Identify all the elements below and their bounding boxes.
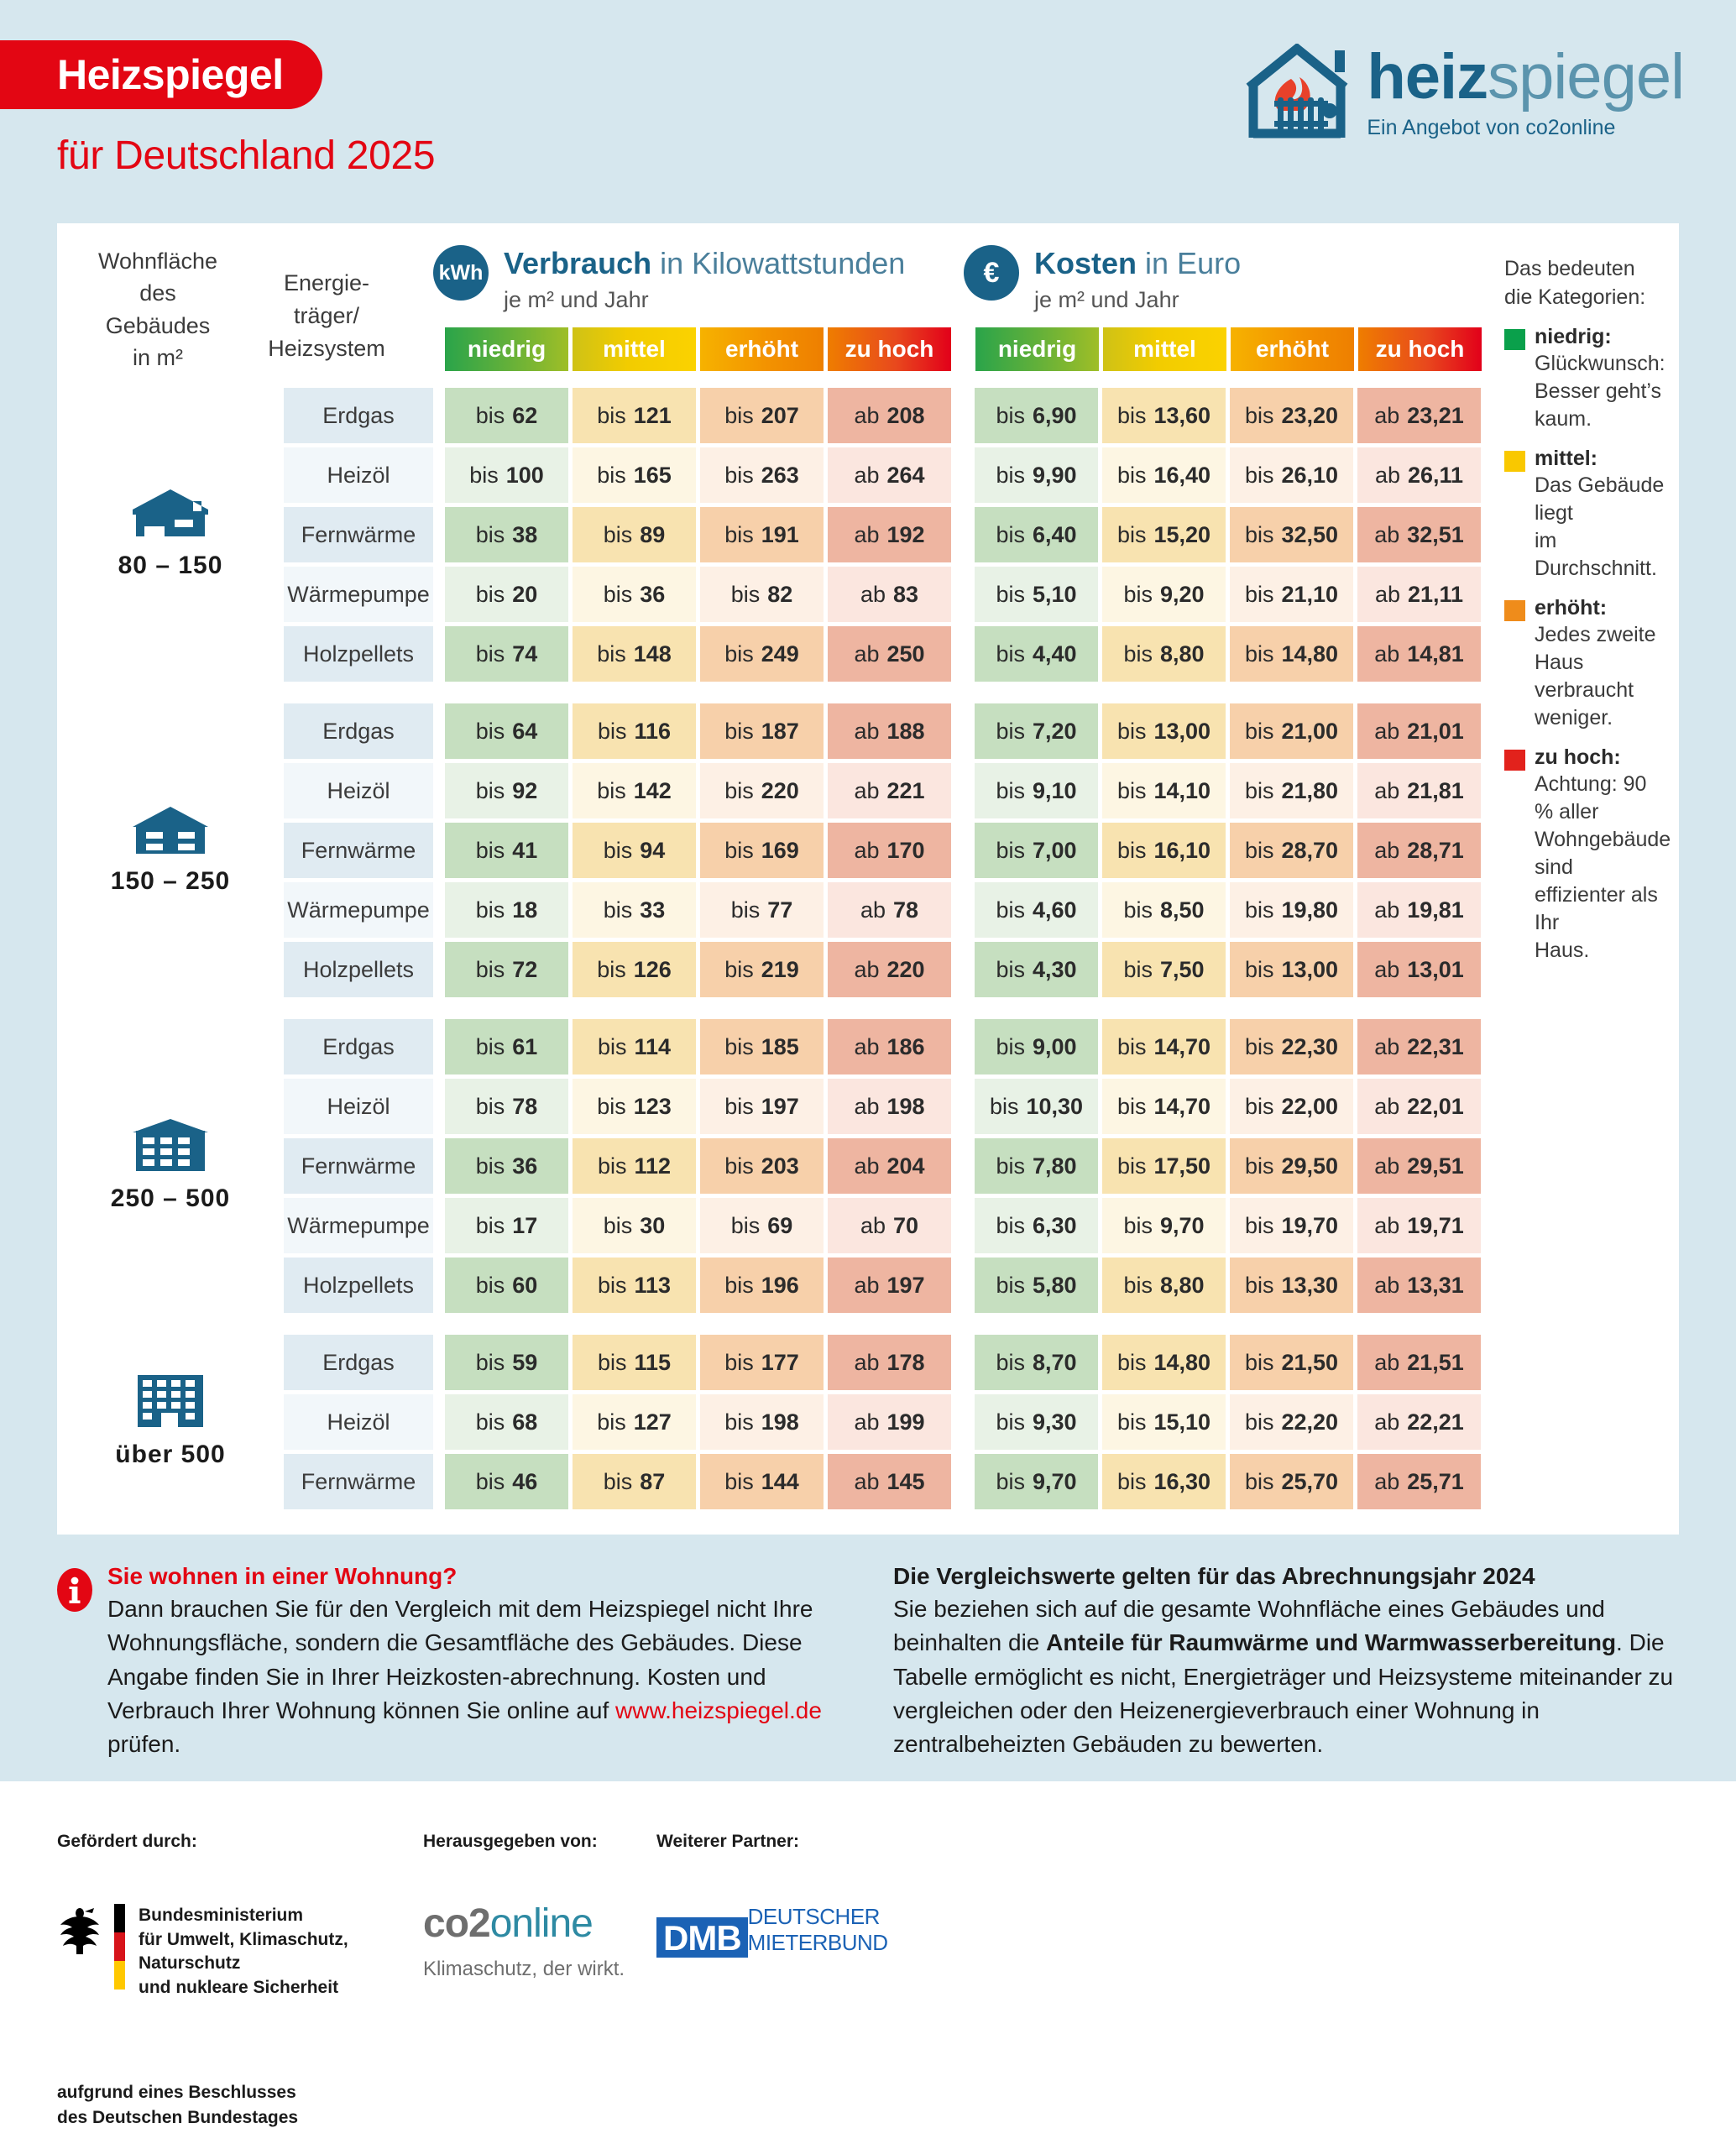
cell-verbrauch-niedrig: bis61 bbox=[445, 1019, 568, 1074]
cell-value: 220 bbox=[761, 778, 799, 804]
cell-prefix: ab bbox=[860, 897, 886, 923]
cell-value: 208 bbox=[886, 403, 924, 429]
cell-prefix: bis bbox=[724, 778, 754, 804]
cell-value: 22,01 bbox=[1407, 1094, 1464, 1120]
table-row: Holzpelletsbis72bis126bis219ab220bis4,30… bbox=[284, 942, 1679, 997]
cell-prefix: bis bbox=[1245, 1034, 1274, 1060]
table-row: Heizölbis78bis123bis197ab198bis10,30bis1… bbox=[284, 1079, 1679, 1134]
size-block-4: über 500Erdgasbis59bis115bis177ab178bis8… bbox=[57, 1335, 1679, 1509]
category-bar-verbrauch: niedrig mittel erhöht zu hoch bbox=[445, 327, 951, 371]
cell-verbrauch-erhöht: bis220 bbox=[700, 763, 824, 818]
cell-kosten-mittel: bis8,50 bbox=[1102, 882, 1226, 938]
cell-value: 22,00 bbox=[1281, 1094, 1338, 1120]
cell-prefix: bis bbox=[604, 897, 633, 923]
cell-group-verbrauch: bis59bis115bis177ab178 bbox=[445, 1335, 951, 1390]
cell-kosten-mittel: bis9,70 bbox=[1102, 1198, 1226, 1253]
cell-value: 263 bbox=[761, 463, 799, 489]
cell-value: 14,10 bbox=[1153, 778, 1210, 804]
cell-verbrauch-erhöht: bis82 bbox=[700, 567, 824, 622]
cell-prefix: bis bbox=[476, 838, 505, 864]
cell-prefix: bis bbox=[604, 582, 633, 608]
cell-verbrauch-niedrig: bis38 bbox=[445, 507, 568, 562]
cell-value: 8,80 bbox=[1160, 1273, 1205, 1299]
category-mittel-verbrauch: mittel bbox=[573, 327, 696, 371]
block-rows: Erdgasbis61bis114bis185ab186bis9,00bis14… bbox=[284, 1019, 1679, 1313]
cell-prefix: ab bbox=[1374, 1350, 1399, 1376]
wohnflaeche-line-3: Gebäudes bbox=[74, 310, 242, 342]
cell-prefix: ab bbox=[860, 582, 886, 608]
legend-color-swatch bbox=[1504, 451, 1525, 472]
cell-kosten-niedrig: bis4,30 bbox=[975, 942, 1098, 997]
cell-group-kosten: bis6,40bis15,20bis32,50ab32,51 bbox=[975, 507, 1481, 562]
cell-value: 13,31 bbox=[1407, 1273, 1464, 1299]
cell-value: 78 bbox=[512, 1094, 537, 1120]
cell-value: 100 bbox=[506, 463, 544, 489]
row-label-energietraeger: Heizöl bbox=[284, 447, 433, 503]
logo-word-spiegel: spiegel bbox=[1488, 41, 1684, 112]
cell-prefix: ab bbox=[1375, 582, 1400, 608]
cell-verbrauch-erhöht: bis187 bbox=[700, 703, 824, 759]
cell-prefix: bis bbox=[996, 1469, 1025, 1495]
logo-word-heiz: heiz bbox=[1367, 41, 1488, 112]
legend-item-name: erhöht: bbox=[1535, 596, 1607, 620]
cell-prefix: bis bbox=[1245, 463, 1274, 489]
cell-value: 21,80 bbox=[1281, 778, 1338, 804]
cell-value: 8,50 bbox=[1160, 897, 1205, 923]
cell-prefix: bis bbox=[724, 719, 754, 745]
cell-verbrauch-mittel: bis113 bbox=[573, 1258, 696, 1313]
table-row: Fernwärmebis36bis112bis203ab204bis7,80bi… bbox=[284, 1138, 1679, 1194]
cell-prefix: bis bbox=[598, 1350, 627, 1376]
cell-value: 19,70 bbox=[1281, 1213, 1338, 1239]
info-left-body-post: prüfen. bbox=[107, 1731, 180, 1757]
cell-value: 14,80 bbox=[1281, 641, 1338, 667]
cell-verbrauch-erhöht: bis144 bbox=[700, 1454, 824, 1509]
cell-prefix: bis bbox=[731, 582, 761, 608]
cell-kosten-zu hoch: ab22,21 bbox=[1357, 1394, 1481, 1450]
cell-value: 89 bbox=[640, 522, 665, 548]
cell-verbrauch-niedrig: bis72 bbox=[445, 942, 568, 997]
cell-prefix: bis bbox=[731, 897, 761, 923]
row-label-energietraeger: Fernwärme bbox=[284, 1138, 433, 1194]
cell-value: 123 bbox=[634, 1094, 672, 1120]
energietraeger-line-1: Energie- bbox=[248, 267, 405, 300]
cell-verbrauch-mittel: bis36 bbox=[573, 567, 696, 622]
cell-verbrauch-niedrig: bis68 bbox=[445, 1394, 568, 1450]
cell-group-kosten: bis6,30bis9,70bis19,70ab19,71 bbox=[975, 1198, 1481, 1253]
cell-value: 62 bbox=[512, 403, 537, 429]
cell-value: 14,80 bbox=[1153, 1350, 1210, 1376]
cell-prefix: bis bbox=[724, 1153, 754, 1179]
cell-kosten-niedrig: bis9,90 bbox=[975, 447, 1098, 503]
cell-prefix: bis bbox=[476, 641, 505, 667]
cell-prefix: bis bbox=[1117, 719, 1147, 745]
cell-prefix: ab bbox=[1374, 641, 1399, 667]
cell-verbrauch-zu hoch: ab204 bbox=[828, 1138, 951, 1194]
cell-kosten-erhöht: bis21,00 bbox=[1230, 703, 1353, 759]
cell-prefix: bis bbox=[597, 1094, 626, 1120]
cell-value: 197 bbox=[886, 1273, 924, 1299]
block-rows: Erdgasbis64bis116bis187ab188bis7,20bis13… bbox=[284, 703, 1679, 997]
cell-verbrauch-niedrig: bis59 bbox=[445, 1335, 568, 1390]
cell-group-kosten: bis10,30bis14,70bis22,00ab22,01 bbox=[975, 1079, 1481, 1134]
cell-prefix: bis bbox=[476, 957, 505, 983]
info-circle-icon bbox=[57, 1568, 92, 1612]
cell-prefix: ab bbox=[854, 1273, 879, 1299]
cell-value: 13,60 bbox=[1153, 403, 1210, 429]
cell-value: 8,70 bbox=[1033, 1350, 1077, 1376]
heizspiegel-link[interactable]: www.heizspiegel.de bbox=[615, 1697, 822, 1723]
cell-kosten-niedrig: bis5,10 bbox=[975, 567, 1098, 622]
cell-prefix: ab bbox=[1374, 1213, 1399, 1239]
cell-value: 7,80 bbox=[1033, 1153, 1077, 1179]
cell-prefix: bis bbox=[598, 719, 627, 745]
cell-value: 21,11 bbox=[1408, 582, 1463, 608]
cell-verbrauch-niedrig: bis41 bbox=[445, 823, 568, 878]
cell-prefix: bis bbox=[724, 838, 754, 864]
cell-kosten-zu hoch: ab14,81 bbox=[1357, 626, 1481, 682]
cell-prefix: bis bbox=[1117, 838, 1147, 864]
table-row: Erdgasbis62bis121bis207ab208bis6,90bis13… bbox=[284, 388, 1679, 443]
cell-value: 14,70 bbox=[1153, 1094, 1210, 1120]
cell-prefix: bis bbox=[597, 778, 626, 804]
cell-kosten-mittel: bis8,80 bbox=[1102, 626, 1226, 682]
row-label-energietraeger: Erdgas bbox=[284, 1019, 433, 1074]
category-zuhoch-verbrauch: zu hoch bbox=[828, 327, 951, 371]
cell-group-kosten: bis9,10bis14,10bis21,80ab21,81 bbox=[975, 763, 1481, 818]
cell-value: 74 bbox=[512, 641, 537, 667]
cell-value: 114 bbox=[634, 1034, 671, 1060]
info-block-vergleichswerte: Die Vergleichswerte gelten für das Abrec… bbox=[893, 1563, 1699, 1762]
legend-title-line-1: Das bedeuten bbox=[1504, 255, 1669, 284]
cell-verbrauch-zu hoch: ab221 bbox=[828, 763, 951, 818]
cell-prefix: bis bbox=[996, 1409, 1025, 1435]
cell-prefix: bis bbox=[724, 1273, 754, 1299]
cell-prefix: bis bbox=[1117, 778, 1147, 804]
energietraeger-line-2: träger/ bbox=[248, 300, 405, 332]
cell-prefix: bis bbox=[996, 897, 1025, 923]
cell-prefix: bis bbox=[724, 1409, 754, 1435]
cell-kosten-zu hoch: ab29,51 bbox=[1357, 1138, 1481, 1194]
cell-kosten-mittel: bis14,70 bbox=[1102, 1079, 1226, 1134]
cell-kosten-zu hoch: ab21,51 bbox=[1357, 1335, 1481, 1390]
cell-prefix: bis bbox=[1245, 719, 1274, 745]
cell-prefix: bis bbox=[996, 1350, 1025, 1376]
cell-kosten-zu hoch: ab26,11 bbox=[1357, 447, 1481, 503]
cell-value: 148 bbox=[634, 641, 672, 667]
cell-verbrauch-mittel: bis116 bbox=[573, 703, 696, 759]
cell-verbrauch-mittel: bis114 bbox=[573, 1019, 696, 1074]
page-subtitle: für Deutschland 2025 bbox=[57, 133, 435, 179]
cell-value: 4,40 bbox=[1033, 641, 1077, 667]
cell-verbrauch-mittel: bis94 bbox=[573, 823, 696, 878]
cell-kosten-niedrig: bis9,10 bbox=[975, 763, 1098, 818]
cell-value: 10,30 bbox=[1026, 1094, 1083, 1120]
cell-kosten-erhöht: bis21,10 bbox=[1230, 567, 1353, 622]
cell-prefix: bis bbox=[476, 1153, 505, 1179]
cell-value: 121 bbox=[634, 403, 672, 429]
cell-value: 6,90 bbox=[1033, 403, 1077, 429]
comparison-table-panel: Wohnfläche des Gebäudes in m² Energie- t… bbox=[57, 223, 1679, 1535]
cell-prefix: ab bbox=[854, 1469, 879, 1495]
cell-prefix: bis bbox=[1117, 463, 1147, 489]
cell-prefix: bis bbox=[476, 1273, 505, 1299]
row-label-energietraeger: Fernwärme bbox=[284, 1454, 433, 1509]
cell-value: 9,90 bbox=[1033, 463, 1077, 489]
cell-verbrauch-niedrig: bis74 bbox=[445, 626, 568, 682]
cell-prefix: bis bbox=[1117, 403, 1147, 429]
cell-group-kosten: bis9,70bis16,30bis25,70ab25,71 bbox=[975, 1454, 1481, 1509]
footer-column-partner: Weiterer Partner: DMB DEUTSCHER MIETERBU… bbox=[656, 1832, 1009, 2130]
cell-prefix: bis bbox=[1123, 957, 1153, 983]
cell-kosten-erhöht: bis21,80 bbox=[1230, 763, 1353, 818]
cell-kosten-mittel: bis14,80 bbox=[1102, 1335, 1226, 1390]
info-right-bold: Anteile für Raumwärme und Warmwasserbere… bbox=[1046, 1629, 1616, 1655]
cell-verbrauch-erhöht: bis191 bbox=[700, 507, 824, 562]
table-row: Fernwärmebis38bis89bis191ab192bis6,40bis… bbox=[284, 507, 1679, 562]
cell-prefix: ab bbox=[860, 1213, 886, 1239]
verbrauch-title: Verbrauch bbox=[504, 246, 651, 280]
cell-value: 207 bbox=[761, 403, 799, 429]
cell-value: 178 bbox=[886, 1350, 924, 1376]
cell-prefix: ab bbox=[1374, 719, 1399, 745]
cell-prefix: bis bbox=[597, 463, 626, 489]
cell-prefix: ab bbox=[854, 522, 879, 548]
cell-prefix: bis bbox=[1123, 1273, 1153, 1299]
cell-kosten-erhöht: bis13,30 bbox=[1230, 1258, 1353, 1313]
cell-prefix: bis bbox=[598, 1153, 627, 1179]
cell-verbrauch-zu hoch: ab188 bbox=[828, 703, 951, 759]
cell-value: 169 bbox=[761, 838, 799, 864]
cell-prefix: bis bbox=[476, 1409, 505, 1435]
cell-value: 113 bbox=[634, 1273, 671, 1299]
cell-prefix: bis bbox=[598, 1034, 627, 1060]
cell-value: 192 bbox=[886, 522, 924, 548]
wohnflaeche-line-2: des bbox=[74, 277, 242, 309]
cell-prefix: bis bbox=[996, 1034, 1025, 1060]
kwh-badge-icon: kWh bbox=[433, 245, 489, 301]
cell-prefix: bis bbox=[597, 403, 626, 429]
info-band: Sie wohnen in einer Wohnung? Dann brauch… bbox=[0, 1546, 1736, 1781]
cell-value: 32,50 bbox=[1281, 522, 1338, 548]
cell-value: 203 bbox=[761, 1153, 799, 1179]
cell-value: 4,30 bbox=[1033, 957, 1077, 983]
cell-prefix: ab bbox=[854, 778, 879, 804]
table-row: Wärmepumpebis18bis33bis77ab78bis4,60bis8… bbox=[284, 882, 1679, 938]
cell-kosten-zu hoch: ab13,31 bbox=[1357, 1258, 1481, 1313]
legend-title: Das bedeuten die Kategorien: bbox=[1504, 255, 1669, 311]
cell-verbrauch-niedrig: bis78 bbox=[445, 1079, 568, 1134]
cell-value: 59 bbox=[512, 1350, 537, 1376]
apartment-block-icon bbox=[133, 1375, 208, 1427]
cell-prefix: bis bbox=[996, 522, 1025, 548]
co2online-logo: co2online bbox=[423, 1904, 656, 1944]
verbrauch-unit: je m² und Jahr bbox=[504, 287, 905, 313]
cell-verbrauch-zu hoch: ab178 bbox=[828, 1335, 951, 1390]
cell-value: 18 bbox=[512, 897, 537, 923]
cell-prefix: ab bbox=[1374, 838, 1399, 864]
block-icon-group: 150 – 250 bbox=[57, 805, 284, 896]
row-label-energietraeger: Wärmepumpe bbox=[284, 1198, 433, 1253]
cell-prefix: bis bbox=[1117, 1094, 1147, 1120]
dmb-name: DEUTSCHER MIETERBUND bbox=[748, 1904, 1009, 1958]
cell-value: 5,10 bbox=[1033, 582, 1077, 608]
cell-kosten-erhöht: bis14,80 bbox=[1230, 626, 1353, 682]
cell-verbrauch-mittel: bis87 bbox=[573, 1454, 696, 1509]
row-label-energietraeger: Erdgas bbox=[284, 703, 433, 759]
cell-kosten-zu hoch: ab32,51 bbox=[1357, 507, 1481, 562]
cell-prefix: ab bbox=[854, 957, 879, 983]
cell-prefix: bis bbox=[476, 582, 505, 608]
cell-verbrauch-erhöht: bis203 bbox=[700, 1138, 824, 1194]
cell-kosten-niedrig: bis5,80 bbox=[975, 1258, 1098, 1313]
cell-value: 9,10 bbox=[1033, 778, 1077, 804]
cell-value: 22,30 bbox=[1281, 1034, 1338, 1060]
cell-prefix: bis bbox=[996, 1153, 1025, 1179]
cell-kosten-mittel: bis16,10 bbox=[1102, 823, 1226, 878]
cell-prefix: bis bbox=[1123, 641, 1153, 667]
cell-prefix: bis bbox=[724, 1350, 754, 1376]
cell-value: 21,81 bbox=[1407, 778, 1464, 804]
cell-value: 61 bbox=[512, 1034, 537, 1060]
cell-kosten-niedrig: bis6,30 bbox=[975, 1198, 1098, 1253]
footer-label-published: Herausgegeben von: bbox=[423, 1832, 656, 1852]
cell-verbrauch-erhöht: bis196 bbox=[700, 1258, 824, 1313]
cell-kosten-niedrig: bis8,70 bbox=[975, 1335, 1098, 1390]
cell-kosten-zu hoch: ab19,71 bbox=[1357, 1198, 1481, 1253]
row-label-energietraeger: Wärmepumpe bbox=[284, 567, 433, 622]
cell-value: 7,20 bbox=[1033, 719, 1077, 745]
cell-prefix: bis bbox=[724, 522, 754, 548]
cell-value: 197 bbox=[761, 1094, 799, 1120]
cell-value: 198 bbox=[761, 1409, 799, 1435]
cell-value: 250 bbox=[886, 641, 924, 667]
cell-value: 199 bbox=[886, 1409, 924, 1435]
cell-kosten-niedrig: bis10,30 bbox=[975, 1079, 1098, 1134]
cell-prefix: bis bbox=[1245, 522, 1274, 548]
cell-group-verbrauch: bis68bis127bis198ab199 bbox=[445, 1394, 951, 1450]
legend-color-swatch bbox=[1504, 750, 1525, 771]
cell-verbrauch-niedrig: bis60 bbox=[445, 1258, 568, 1313]
cell-value: 82 bbox=[767, 582, 792, 608]
cell-verbrauch-erhöht: bis185 bbox=[700, 1019, 824, 1074]
cell-prefix: bis bbox=[996, 1273, 1025, 1299]
cell-prefix: bis bbox=[1117, 1469, 1147, 1495]
cell-value: 204 bbox=[886, 1153, 924, 1179]
cell-verbrauch-zu hoch: ab250 bbox=[828, 626, 951, 682]
bundestag-note-line-1: aufgrund eines Beschlusses bbox=[57, 2080, 423, 2105]
cell-verbrauch-mittel: bis112 bbox=[573, 1138, 696, 1194]
cell-verbrauch-mittel: bis127 bbox=[573, 1394, 696, 1450]
cell-group-kosten: bis6,90bis13,60bis23,20ab23,21 bbox=[975, 388, 1481, 443]
table-body: 80 – 150Erdgasbis62bis121bis207ab208bis6… bbox=[57, 388, 1679, 1509]
cell-value: 9,20 bbox=[1160, 582, 1205, 608]
cell-verbrauch-erhöht: bis169 bbox=[700, 823, 824, 878]
cell-value: 69 bbox=[767, 1213, 792, 1239]
cell-verbrauch-mittel: bis142 bbox=[573, 763, 696, 818]
cell-kosten-mittel: bis13,60 bbox=[1102, 388, 1226, 443]
page-header: Heizspiegel für Deutschland 2025 bbox=[0, 0, 1736, 220]
cell-kosten-erhöht: bis32,50 bbox=[1230, 507, 1353, 562]
cell-value: 4,60 bbox=[1033, 897, 1077, 923]
cell-prefix: bis bbox=[1245, 1094, 1274, 1120]
cell-kosten-mittel: bis16,40 bbox=[1102, 447, 1226, 503]
cell-group-verbrauch: bis100bis165bis263ab264 bbox=[445, 447, 951, 503]
cell-prefix: bis bbox=[724, 641, 754, 667]
cell-value: 112 bbox=[634, 1153, 671, 1179]
cell-kosten-zu hoch: ab22,01 bbox=[1357, 1079, 1481, 1134]
cell-verbrauch-erhöht: bis219 bbox=[700, 942, 824, 997]
cell-prefix: bis bbox=[996, 778, 1025, 804]
row-label-energietraeger: Fernwärme bbox=[284, 507, 433, 562]
cell-value: 14,81 bbox=[1407, 641, 1464, 667]
cell-kosten-niedrig: bis9,30 bbox=[975, 1394, 1098, 1450]
cell-value: 64 bbox=[512, 719, 537, 745]
table-row: Erdgasbis59bis115bis177ab178bis8,70bis14… bbox=[284, 1335, 1679, 1390]
info-left-body: Dann brauchen Sie für den Vergleich mit … bbox=[107, 1592, 838, 1762]
cell-value: 220 bbox=[886, 957, 924, 983]
cell-verbrauch-niedrig: bis20 bbox=[445, 567, 568, 622]
cell-prefix: ab bbox=[1374, 1034, 1399, 1060]
table-row: Heizölbis100bis165bis263ab264bis9,90bis1… bbox=[284, 447, 1679, 503]
cell-value: 26,11 bbox=[1408, 463, 1463, 489]
cell-value: 13,01 bbox=[1407, 957, 1464, 983]
cell-kosten-niedrig: bis7,20 bbox=[975, 703, 1098, 759]
cell-verbrauch-erhöht: bis198 bbox=[700, 1394, 824, 1450]
cell-value: 87 bbox=[640, 1469, 665, 1495]
cell-verbrauch-erhöht: bis69 bbox=[700, 1198, 824, 1253]
cell-prefix: ab bbox=[854, 719, 879, 745]
cell-kosten-mittel: bis13,00 bbox=[1102, 703, 1226, 759]
logo-wordmark: heizspiegel bbox=[1367, 47, 1684, 107]
bmuv-name: Bundesministerium für Umwelt, Klimaschut… bbox=[139, 1904, 423, 2000]
cell-prefix: ab bbox=[1374, 403, 1399, 429]
cell-kosten-zu hoch: ab21,11 bbox=[1357, 567, 1481, 622]
cell-verbrauch-erhöht: bis197 bbox=[700, 1079, 824, 1134]
cell-kosten-mittel: bis14,70 bbox=[1102, 1019, 1226, 1074]
bmuv-line-1: Bundesministerium bbox=[139, 1904, 423, 1928]
cell-value: 94 bbox=[640, 838, 665, 864]
cell-prefix: bis bbox=[598, 1273, 627, 1299]
cell-kosten-niedrig: bis7,00 bbox=[975, 823, 1098, 878]
cell-verbrauch-mittel: bis30 bbox=[573, 1198, 696, 1253]
cell-prefix: bis bbox=[476, 403, 505, 429]
cell-verbrauch-niedrig: bis62 bbox=[445, 388, 568, 443]
cell-prefix: bis bbox=[996, 719, 1025, 745]
info-left-heading: Sie wohnen in einer Wohnung? bbox=[107, 1563, 838, 1590]
cell-prefix: bis bbox=[1117, 1034, 1147, 1060]
legend-item-name: niedrig: bbox=[1535, 325, 1612, 349]
cell-kosten-niedrig: bis7,80 bbox=[975, 1138, 1098, 1194]
cell-group-kosten: bis8,70bis14,80bis21,50ab21,51 bbox=[975, 1335, 1481, 1390]
cell-verbrauch-zu hoch: ab192 bbox=[828, 507, 951, 562]
cell-group-verbrauch: bis72bis126bis219ab220 bbox=[445, 942, 951, 997]
cell-kosten-zu hoch: ab28,71 bbox=[1357, 823, 1481, 878]
cell-prefix: bis bbox=[1245, 1153, 1274, 1179]
cell-value: 177 bbox=[761, 1350, 799, 1376]
cell-group-verbrauch: bis78bis123bis197ab198 bbox=[445, 1079, 951, 1134]
cell-value: 8,80 bbox=[1160, 641, 1205, 667]
cell-prefix: bis bbox=[1123, 897, 1153, 923]
cell-value: 185 bbox=[761, 1034, 799, 1060]
cell-value: 127 bbox=[634, 1409, 672, 1435]
cell-prefix: bis bbox=[476, 1469, 505, 1495]
cell-prefix: ab bbox=[854, 1409, 879, 1435]
house-small-icon bbox=[133, 489, 208, 538]
cell-prefix: ab bbox=[1374, 778, 1399, 804]
cell-prefix: bis bbox=[1123, 1213, 1153, 1239]
column-header-energietraeger: Energie- träger/ Heizsystem bbox=[248, 267, 405, 365]
